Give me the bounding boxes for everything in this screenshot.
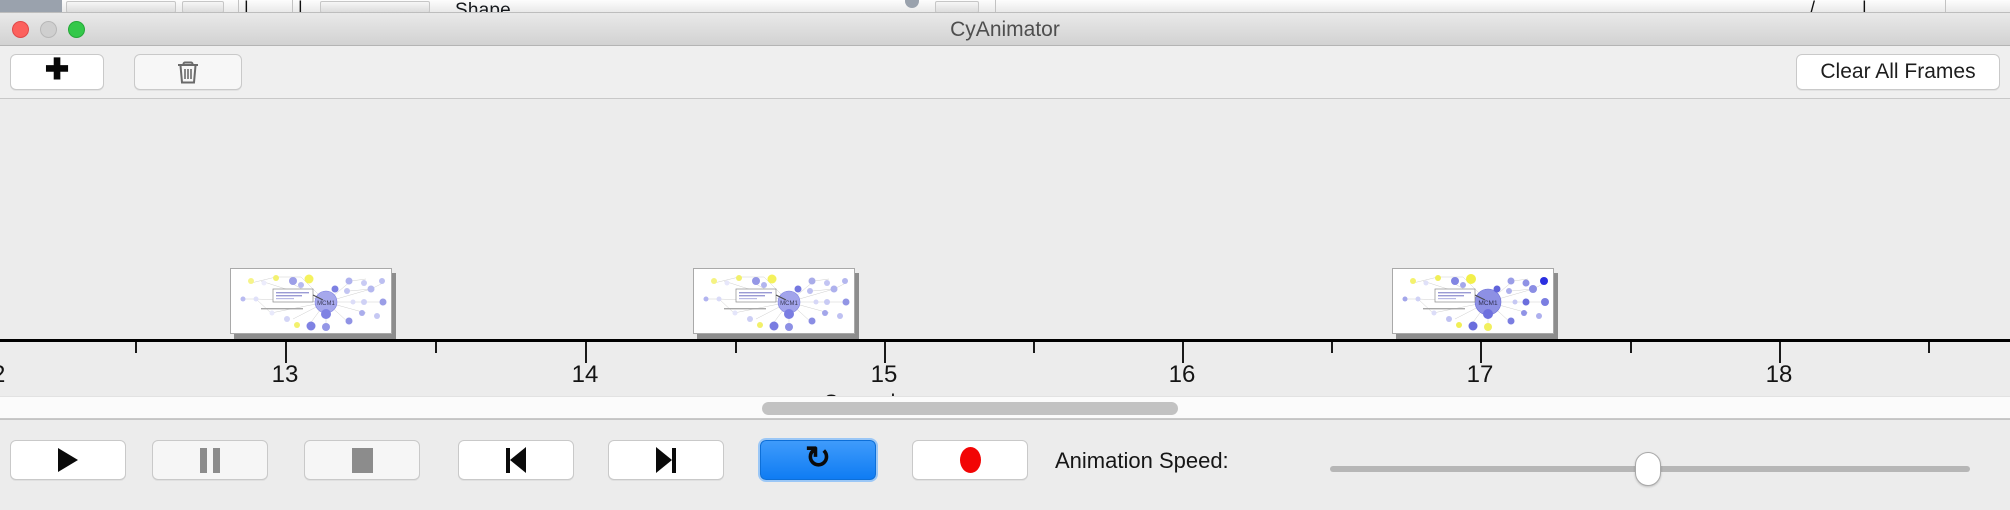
network-nodes (241, 275, 387, 332)
ruler-tick-minor (135, 342, 137, 353)
timeline-ruler-line (0, 339, 2010, 342)
bg-glyph: / (1810, 0, 1815, 13)
ruler-label: 15 (871, 361, 898, 389)
record-icon (960, 447, 981, 473)
network-graph: MCM1 (231, 269, 392, 334)
ruler-tick-minor (1630, 342, 1632, 353)
network-graph: MCM1 (694, 269, 855, 334)
add-frame-button[interactable]: ✚ (10, 54, 104, 90)
background-window-strip: | | Shape / | (0, 0, 2010, 13)
ruler-tick-major (1480, 342, 1482, 363)
skip-back-button[interactable] (458, 440, 574, 480)
ruler-label: 18 (1766, 361, 1793, 389)
timeline-panel[interactable]: MCM1 (0, 99, 2010, 419)
bg-window-label: Shape (455, 0, 511, 13)
bg-separator (292, 0, 293, 13)
ruler-tick-minor (1331, 342, 1333, 353)
ruler-tick-major (1779, 342, 1781, 363)
ruler-tick-minor (735, 342, 737, 353)
cyanimator-window: CyAnimator ✚ Clear All Frames (0, 13, 2010, 510)
bg-box (66, 1, 176, 13)
ruler-tick-major (585, 342, 587, 363)
network-nodes (704, 275, 850, 332)
ruler-tick-major (285, 342, 287, 363)
skip-back-icon (506, 447, 526, 473)
bg-glyph: | (298, 0, 303, 13)
pause-icon (200, 448, 220, 473)
skip-forward-button[interactable] (608, 440, 724, 480)
thumbnail-network-image: MCM1 (693, 268, 855, 334)
ruler-tick-major (884, 342, 886, 363)
playback-toolbar: ↻ Animation Speed: (0, 419, 2010, 509)
scrollbar-thumb[interactable] (762, 402, 1178, 415)
bg-glyph: | (1862, 0, 1867, 13)
ruler-tick-minor (435, 342, 437, 353)
animation-speed-label: Animation Speed: (1055, 448, 1229, 474)
ruler-label: 13 (272, 361, 299, 389)
network-graph: MCM1 (1393, 269, 1554, 334)
timeline-frame-thumbnail[interactable]: MCM1 (230, 268, 396, 338)
timeline-horizontal-scrollbar[interactable] (0, 396, 2010, 419)
ruler-tick-major (1182, 342, 1184, 363)
bg-separator (1945, 0, 1946, 13)
slider-knob[interactable] (1635, 452, 1661, 486)
bg-box (182, 1, 224, 13)
bg-box (320, 1, 430, 13)
loop-icon: ↻ (805, 442, 831, 473)
loop-button[interactable]: ↻ (760, 440, 876, 480)
stop-button[interactable] (304, 440, 420, 480)
ruler-label: 12 (0, 361, 5, 389)
window-titlebar: CyAnimator (0, 13, 2010, 46)
window-title: CyAnimator (0, 18, 2010, 42)
timeline-frame-thumbnail[interactable]: MCM1 (1392, 268, 1558, 338)
bg-block (0, 0, 62, 13)
pause-button[interactable] (152, 440, 268, 480)
ruler-label: 16 (1169, 361, 1196, 389)
play-button[interactable] (10, 440, 126, 480)
delete-frame-button[interactable] (134, 54, 242, 90)
bg-separator (995, 0, 996, 13)
hub-node-label: MCM1 (780, 301, 798, 307)
stop-icon (352, 448, 373, 473)
thumbnail-network-image: MCM1 (230, 268, 392, 334)
hub-node-label: MCM1 (1478, 300, 1498, 307)
bg-glyph: | (244, 0, 249, 13)
play-icon (58, 448, 78, 472)
timeline-frame-thumbnail[interactable]: MCM1 (693, 268, 859, 338)
network-nodes (1403, 274, 1550, 331)
ruler-tick-minor (1033, 342, 1035, 353)
bg-block (905, 0, 919, 8)
skip-forward-icon (656, 447, 676, 473)
ruler-label: 17 (1467, 361, 1494, 389)
toolbar: ✚ Clear All Frames (0, 46, 2010, 99)
thumbnail-network-image: MCM1 (1392, 268, 1554, 334)
bg-separator (238, 0, 239, 13)
ruler-label: 14 (572, 361, 599, 389)
animation-speed-slider[interactable] (1330, 466, 2010, 472)
trash-icon (175, 58, 201, 86)
hub-node-label: MCM1 (317, 301, 335, 307)
record-button[interactable] (912, 440, 1028, 480)
bg-box (935, 1, 979, 13)
plus-icon: ✚ (45, 56, 69, 85)
clear-all-frames-button[interactable]: Clear All Frames (1796, 54, 2000, 90)
ruler-tick-minor (1928, 342, 1930, 353)
